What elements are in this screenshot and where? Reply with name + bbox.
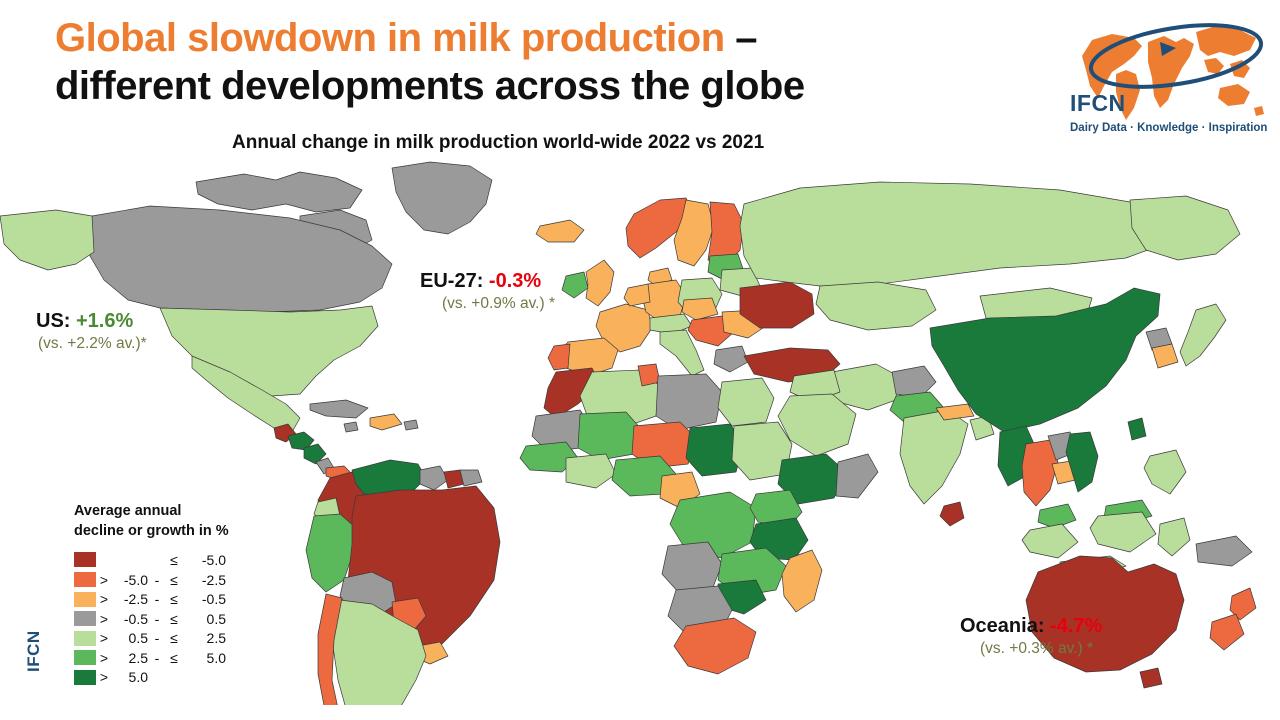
country-greenland — [392, 162, 492, 234]
country-egypt — [718, 378, 774, 426]
infographic-slide: Global slowdown in milk production – dif… — [0, 0, 1280, 720]
legend-gt-symbol: > — [96, 669, 112, 685]
country-india — [900, 410, 968, 504]
country-united-kingdom — [586, 260, 614, 306]
page-title-line2: different developments across the globe — [55, 65, 1045, 107]
legend-range-dash: - — [148, 572, 166, 588]
annotation-eu27-label: EU-27: — [420, 270, 489, 292]
country-netherlands-belgium — [624, 284, 650, 306]
country-russia-far-east — [1130, 196, 1240, 260]
legend-low-value: 2.5 — [112, 650, 148, 666]
legend-title: Average annual decline or growth in % — [74, 502, 229, 541]
legend-low-value: -0.5 — [112, 611, 148, 627]
annotation-us-label: US: — [36, 310, 76, 332]
country-iceland — [536, 220, 584, 242]
country-philippines — [1144, 450, 1186, 494]
annotation-us: US: +1.6% (vs. +2.2% av.)* — [36, 310, 147, 353]
legend-color-swatch — [74, 611, 96, 626]
logo-name-text: IFCN — [1070, 90, 1126, 117]
country-hispaniola — [370, 414, 402, 430]
legend-color-swatch — [74, 592, 96, 607]
legend-gt-symbol: > — [96, 611, 112, 627]
country-french-guiana — [460, 470, 482, 486]
map-legend: Average annual decline or growth in % ≤-… — [74, 502, 229, 687]
country-indonesia-borneo — [1090, 512, 1156, 552]
legend-color-swatch — [74, 650, 96, 665]
legend-le-symbol: ≤ — [166, 552, 182, 568]
side-branding-ifcn: IFCN — [10, 600, 50, 680]
legend-row: >-0.5-≤0.5 — [74, 609, 229, 629]
page-title-line1: Global slowdown in milk production – — [55, 18, 1045, 58]
country-indonesia-sumatra — [1022, 524, 1078, 558]
country-russia — [740, 182, 1170, 286]
legend-low-value: -2.5 — [112, 591, 148, 607]
legend-high-value: -2.5 — [182, 572, 226, 588]
ifcn-logo: IFCN Dairy Data · Knowledge · Inspiratio… — [1064, 12, 1272, 132]
island-jamaica — [344, 422, 358, 432]
annotation-us-value: +1.6% — [76, 310, 133, 332]
legend-high-value: -5.0 — [182, 552, 226, 568]
legend-gt-symbol: > — [96, 591, 112, 607]
legend-range-dash: - — [148, 650, 166, 666]
legend-le-symbol: ≤ — [166, 611, 182, 627]
legend-color-swatch — [74, 552, 96, 567]
country-south-korea — [1152, 344, 1178, 368]
annotation-us-sub: (vs. +2.2% av.)* — [38, 335, 147, 353]
side-branding-label: IFCN — [24, 630, 44, 672]
country-new-zealand-south — [1210, 614, 1244, 650]
legend-gt-symbol: > — [96, 630, 112, 646]
country-papua-new-guinea — [1196, 536, 1252, 566]
title-block: Global slowdown in milk production – dif… — [55, 18, 1045, 107]
title-accent-text: Global slowdown in milk production — [55, 16, 725, 60]
country-cuba — [310, 400, 368, 418]
country-malaysia — [1038, 504, 1076, 528]
legend-range-dash: - — [148, 630, 166, 646]
title-dash: – — [725, 16, 757, 60]
legend-row: >-5.0-≤-2.5 — [74, 570, 229, 590]
country-czech-slovakia — [682, 298, 718, 320]
legend-row: >0.5-≤2.5 — [74, 629, 229, 649]
legend-high-value: 0.5 — [182, 611, 226, 627]
country-south-africa — [674, 618, 756, 674]
legend-rows: ≤-5.0>-5.0-≤-2.5>-2.5-≤-0.5>-0.5-≤0.5>0.… — [74, 550, 229, 687]
legend-le-symbol: ≤ — [166, 630, 182, 646]
legend-low-value: 0.5 — [112, 630, 148, 646]
legend-gt-symbol: > — [96, 572, 112, 588]
annotation-oceania: Oceania: -4.7% (vs. +0.3% av.) * — [960, 615, 1102, 658]
legend-title-line2: decline or growth in % — [74, 522, 229, 542]
legend-title-line1: Average annual — [74, 502, 229, 522]
annotation-oceania-sub: (vs. +0.3% av.) * — [980, 640, 1102, 658]
country-canada-arctic — [196, 172, 362, 212]
country-taiwan — [1128, 418, 1146, 440]
legend-row: ≤-5.0 — [74, 550, 229, 570]
legend-row: >-2.5-≤-0.5 — [74, 589, 229, 609]
legend-low-value: -5.0 — [112, 572, 148, 588]
country-sri-lanka — [940, 502, 964, 526]
legend-high-value: 5.0 — [182, 650, 226, 666]
legend-color-swatch — [74, 631, 96, 646]
country-japan — [1180, 304, 1226, 366]
country-guyana — [420, 466, 448, 490]
country-libya — [656, 374, 722, 430]
country-ireland — [562, 272, 588, 298]
legend-range-dash: - — [148, 611, 166, 627]
country-alaska — [0, 210, 94, 270]
annotation-eu27-sub: (vs. +0.9% av.) * — [442, 295, 555, 313]
legend-range-dash: - — [148, 591, 166, 607]
country-portugal — [548, 344, 570, 370]
legend-le-symbol: ≤ — [166, 591, 182, 607]
country-kazakhstan — [816, 282, 936, 330]
annotation-oceania-label: Oceania: — [960, 615, 1050, 637]
legend-row: >5.0 — [74, 668, 229, 688]
country-tunisia — [638, 364, 660, 386]
annotation-oceania-value: -4.7% — [1050, 615, 1102, 637]
country-vietnam — [1066, 432, 1098, 492]
legend-gt-symbol: > — [96, 650, 112, 666]
page-subtitle: Annual change in milk production world-w… — [232, 132, 764, 154]
island-puerto-rico — [404, 420, 418, 430]
country-ivory-coast-ghana — [566, 454, 616, 488]
country-greece — [714, 346, 748, 372]
island-tasmania — [1140, 668, 1162, 688]
country-somalia — [836, 454, 878, 498]
legend-color-swatch — [74, 572, 96, 587]
legend-le-symbol: ≤ — [166, 650, 182, 666]
logo-tagline-text: Dairy Data · Knowledge · Inspiration — [1070, 122, 1267, 134]
legend-high-value: -0.5 — [182, 591, 226, 607]
legend-color-swatch — [74, 670, 96, 685]
legend-low-value: 5.0 — [112, 669, 148, 685]
annotation-eu27-value: -0.3% — [489, 270, 541, 292]
legend-le-symbol: ≤ — [166, 572, 182, 588]
legend-high-value: 2.5 — [182, 630, 226, 646]
country-indonesia-sulawesi — [1158, 518, 1190, 556]
country-united-states — [160, 306, 378, 396]
annotation-eu27: EU-27: -0.3% (vs. +0.9% av.) * — [420, 270, 555, 313]
country-ukraine — [740, 282, 814, 328]
legend-row: >2.5-≤5.0 — [74, 648, 229, 668]
